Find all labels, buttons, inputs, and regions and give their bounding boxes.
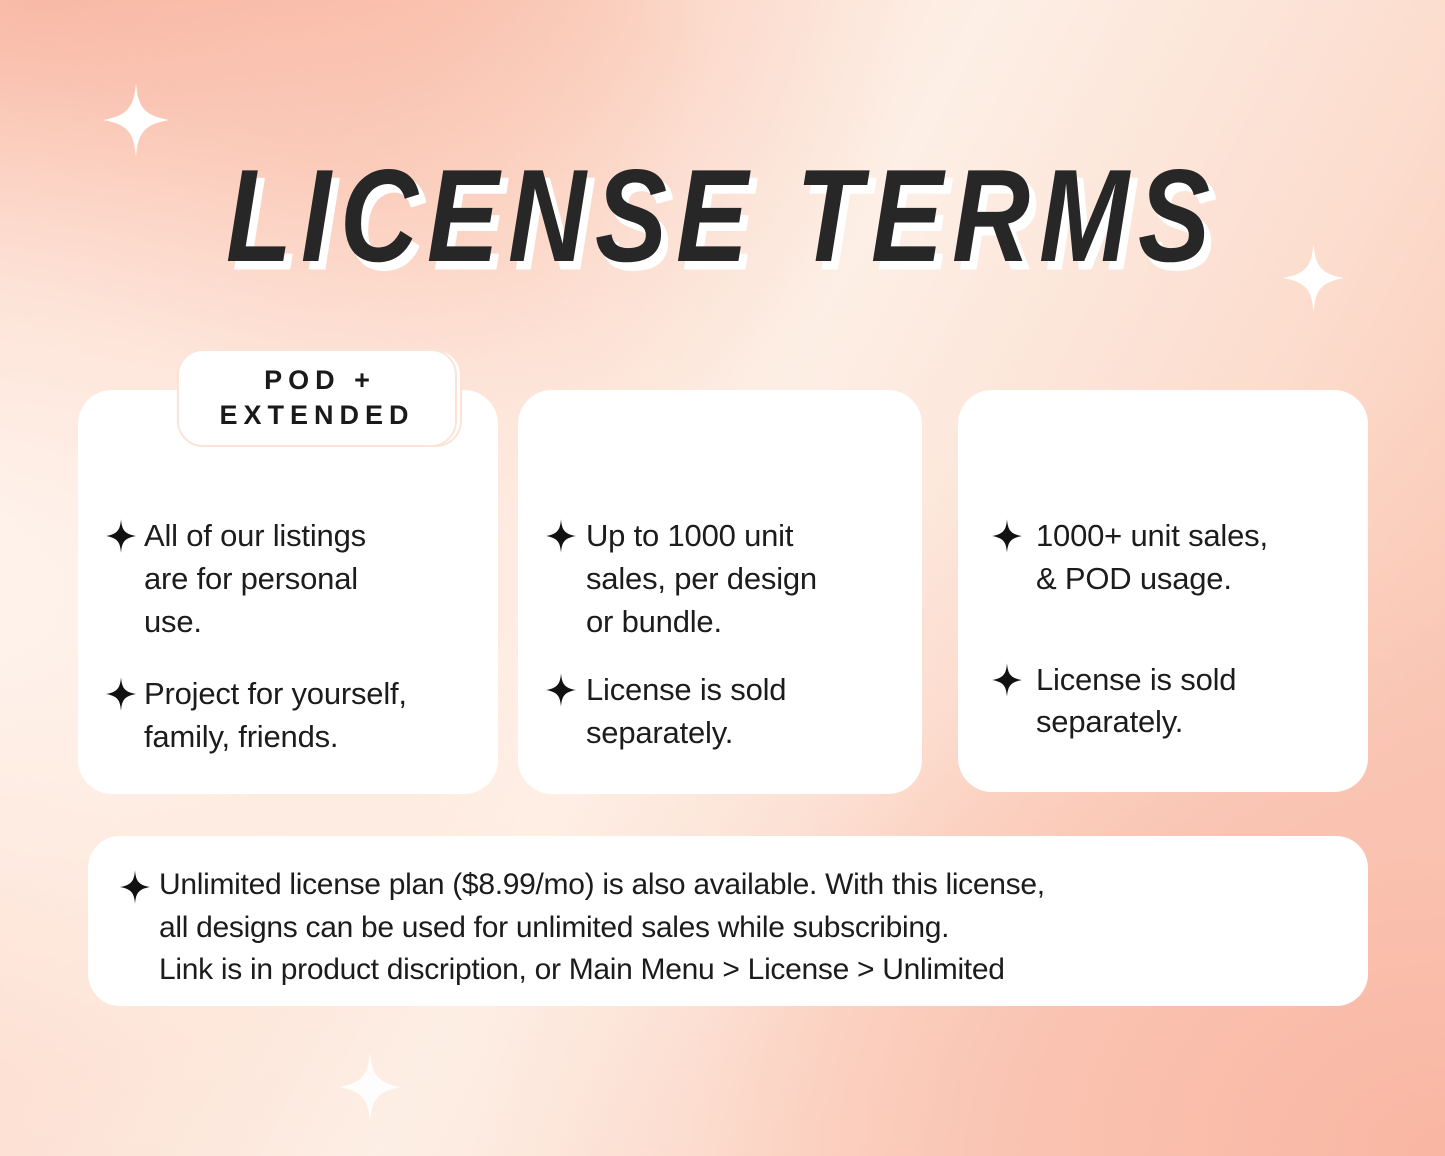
tier-bullet-text: Up to 1000 unit sales, per design or bun…	[586, 515, 817, 643]
sparkle-bullet-icon	[546, 673, 576, 707]
unlimited-plan-text: Unlimited license plan ($8.99/mo) is als…	[159, 864, 1045, 992]
sparkle-bullet-icon	[106, 519, 136, 553]
tier-card-personal[interactable]: All of our listings are for personal use…	[78, 390, 498, 794]
tier-bullet-text: All of our listings are for personal use…	[144, 515, 366, 643]
sparkle-bullet-icon	[546, 519, 576, 553]
page-title: LICENSE TERMS	[226, 150, 1219, 282]
sparkle-bullet-icon	[106, 677, 136, 711]
page-title-container: LICENSE TERMS	[0, 150, 1445, 258]
tier-body-personal: All of our listings are for personal use…	[78, 515, 498, 759]
tier-bullet-text: Project for yourself, family, friends.	[144, 673, 407, 759]
unlimited-plan-banner[interactable]: Unlimited license plan ($8.99/mo) is als…	[88, 836, 1368, 1006]
tier-header-pod-extended[interactable]: POD + EXTENDED	[177, 349, 457, 447]
list-item: Up to 1000 unit sales, per design or bun…	[546, 515, 896, 643]
tier-body-commercial: Up to 1000 unit sales, per design or bun…	[518, 515, 922, 755]
sparkle-bullet-icon	[120, 870, 150, 904]
tier-card-pod-extended[interactable]: 1000+ unit sales, & POD usage. License i…	[958, 390, 1368, 792]
list-item: License is sold separately.	[992, 659, 1342, 745]
list-item: All of our listings are for personal use…	[106, 515, 472, 643]
tier-bullet-text: 1000+ unit sales, & POD usage.	[1036, 515, 1268, 601]
license-tier-cards: All of our listings are for personal use…	[78, 349, 1368, 795]
unlimited-plan-banner-inner: Unlimited license plan ($8.99/mo) is als…	[120, 864, 1344, 992]
tier-header-label: POD + EXTENDED	[219, 363, 414, 432]
list-item: 1000+ unit sales, & POD usage.	[992, 515, 1342, 601]
sparkle-bottom-icon	[339, 1052, 401, 1122]
tier-bullet-text: License is sold separately.	[586, 669, 786, 755]
tier-card-commercial[interactable]: Up to 1000 unit sales, per design or bun…	[518, 390, 922, 794]
sparkle-top-left-icon	[103, 83, 169, 157]
sparkle-bullet-icon	[992, 663, 1022, 697]
list-item: Project for yourself, family, friends.	[106, 673, 472, 759]
tier-bullet-text: License is sold separately.	[1036, 659, 1236, 745]
sparkle-bullet-icon	[992, 519, 1022, 553]
tier-body-pod-extended: 1000+ unit sales, & POD usage. License i…	[958, 515, 1368, 744]
list-item: License is sold separately.	[546, 669, 896, 755]
